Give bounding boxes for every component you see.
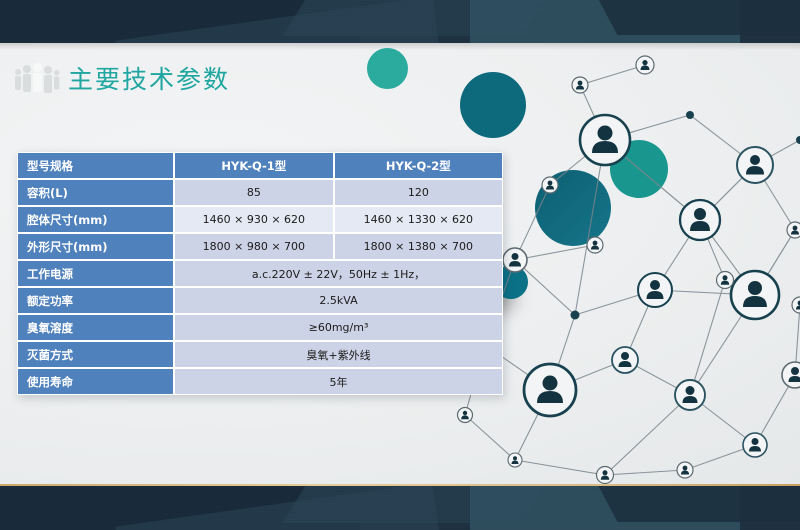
row-label: 腔体尺寸(mm) <box>17 206 174 233</box>
row-label: 容积(L) <box>17 179 174 206</box>
row-value-merged: 2.5kVA <box>174 287 503 314</box>
spec-table-body: 型号规格 HYK-Q-1型 HYK-Q-2型 容积(L) 85 120 腔体尺寸… <box>17 152 503 395</box>
row-label: 额定功率 <box>17 287 174 314</box>
table-row: 臭氧溶度 ≥60mg/m³ <box>17 314 503 341</box>
row-label: 外形尺寸(mm) <box>17 233 174 260</box>
table-row: 灭菌方式 臭氧+紫外线 <box>17 341 503 368</box>
table-row: 使用寿命 5年 <box>17 368 503 395</box>
table-row: 工作电源 a.c.220V ± 22V，50Hz ± 1Hz， <box>17 260 503 287</box>
decor-circle-teal-small <box>367 48 408 89</box>
row-label: 臭氧溶度 <box>17 314 174 341</box>
row-label: 工作电源 <box>17 260 174 287</box>
row-value-col2: 1460 × 1330 × 620 <box>334 206 503 233</box>
bottom-banner <box>0 486 800 530</box>
table-row: 容积(L) 85 120 <box>17 179 503 206</box>
row-label: 使用寿命 <box>17 368 174 395</box>
people-group-icon <box>12 63 60 93</box>
slide: 主要技术参数 型号规格 HYK-Q-1型 HYK-Q-2型 容积(L) 85 1… <box>0 0 800 530</box>
table-row: 腔体尺寸(mm) 1460 × 930 × 620 1460 × 1330 × … <box>17 206 503 233</box>
row-value-col1: 1460 × 930 × 620 <box>174 206 334 233</box>
row-value-col2: 120 <box>334 179 503 206</box>
top-banner <box>0 0 800 43</box>
row-value-col1: 1800 × 980 × 700 <box>174 233 334 260</box>
table-row: 额定功率 2.5kVA <box>17 287 503 314</box>
row-label: 灭菌方式 <box>17 341 174 368</box>
spec-table: 型号规格 HYK-Q-1型 HYK-Q-2型 容积(L) 85 120 腔体尺寸… <box>17 152 503 395</box>
header-label: 型号规格 <box>17 152 174 179</box>
table-header-row: 型号规格 HYK-Q-1型 HYK-Q-2型 <box>17 152 503 179</box>
network-people-icon <box>455 45 800 485</box>
page-title-text: 主要技术参数 <box>68 60 230 96</box>
header-col2: HYK-Q-2型 <box>334 152 503 179</box>
row-value-col1: 85 <box>174 179 334 206</box>
row-value-merged: 臭氧+紫外线 <box>174 341 503 368</box>
table-row: 外形尺寸(mm) 1800 × 980 × 700 1800 × 1380 × … <box>17 233 503 260</box>
header-col1: HYK-Q-1型 <box>174 152 334 179</box>
row-value-merged: ≥60mg/m³ <box>174 314 503 341</box>
row-value-col2: 1800 × 1380 × 700 <box>334 233 503 260</box>
page-title: 主要技术参数 <box>12 56 230 100</box>
row-value-merged: 5年 <box>174 368 503 395</box>
row-value-merged: a.c.220V ± 22V，50Hz ± 1Hz， <box>174 260 503 287</box>
